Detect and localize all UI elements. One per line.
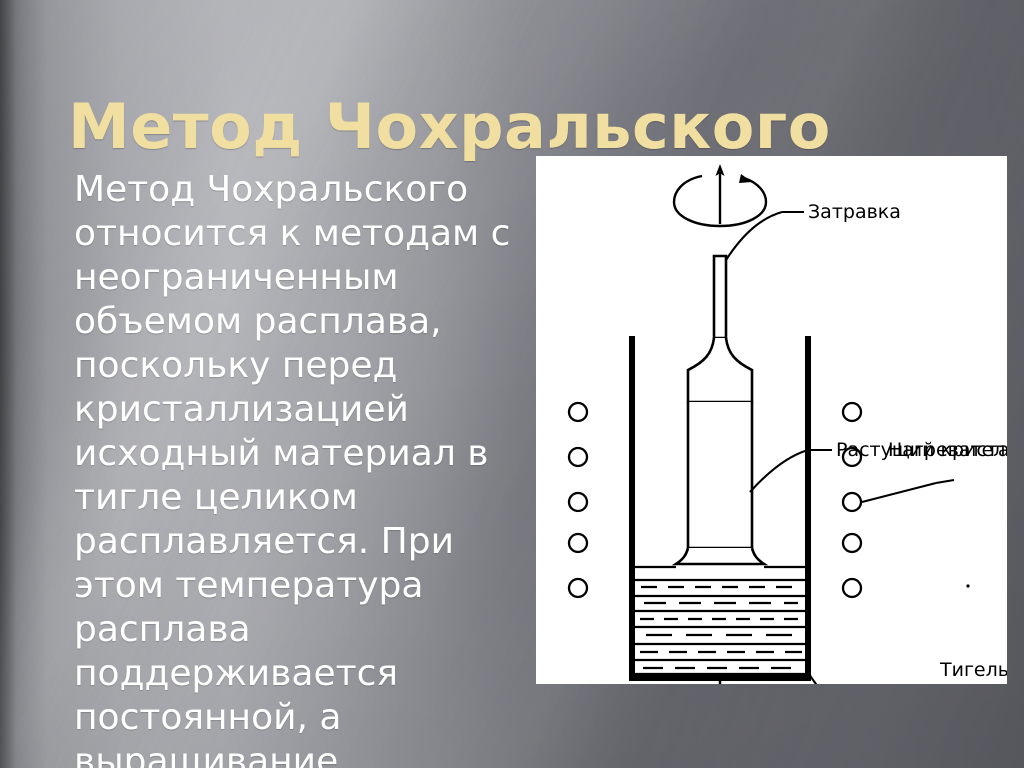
background-left-edge-shade xyxy=(0,0,16,768)
heater-coil xyxy=(569,579,587,597)
heater-coil xyxy=(843,493,861,511)
heater-coil xyxy=(843,534,861,552)
body-paragraph: Метод Чохральского относится к методам с… xyxy=(74,168,529,768)
heater-coil xyxy=(569,493,587,511)
heater-coil xyxy=(843,403,861,421)
scan-speck xyxy=(966,584,969,587)
label-heaters: Нагреватели xyxy=(888,439,1007,461)
page-title: Метод Чохральского xyxy=(68,94,968,159)
heater-coil xyxy=(569,448,587,466)
czochralski-diagram-svg: Затравка Растущий кристалл Нагреватели Т… xyxy=(536,156,1007,684)
heater-coil xyxy=(569,534,587,552)
heater-coil xyxy=(569,403,587,421)
label-seed: Затравка xyxy=(808,201,901,223)
figure-panel: Затравка Растущий кристалл Нагреватели Т… xyxy=(536,156,1007,684)
label-crucible: Тигель xyxy=(939,659,1007,681)
slide-canvas: Метод Чохральского Метод Чохральского от… xyxy=(0,0,1024,768)
heater-coil xyxy=(843,579,861,597)
figure-background xyxy=(536,156,1007,684)
